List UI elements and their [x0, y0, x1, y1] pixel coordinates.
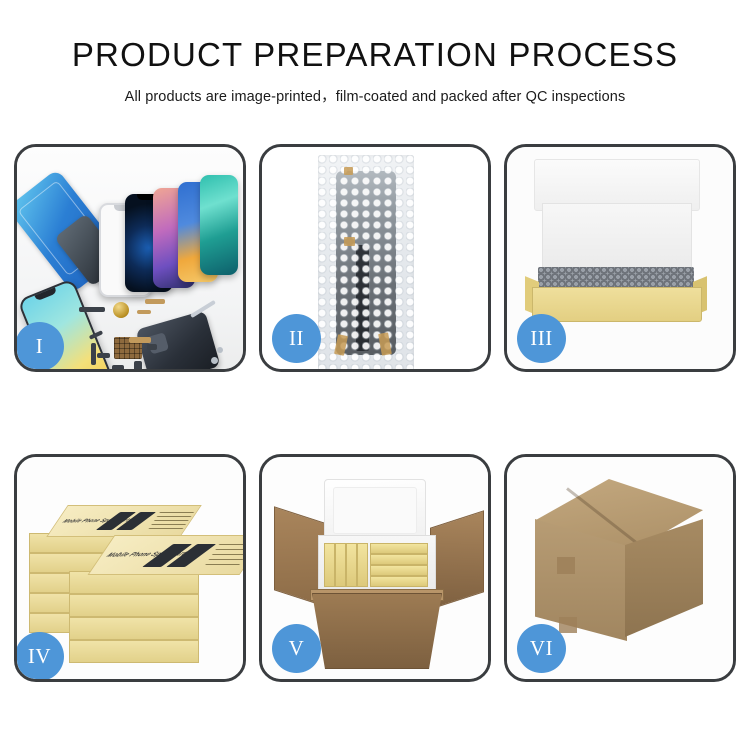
inner-box-7 [370, 565, 428, 576]
inner-box-3 [346, 543, 357, 587]
camera-lens-icon [113, 302, 129, 318]
step-panel-4: Mobile Phone Spare Parts [14, 454, 246, 682]
teal-phone-icon [200, 175, 238, 275]
stack-back-lid: Mobile Phone Spare Parts [46, 505, 202, 537]
step-badge-4: IV [15, 632, 64, 681]
carton-tape-upper-icon [557, 557, 575, 574]
step-panel-6: VI [504, 454, 736, 682]
inner-box-4 [357, 543, 368, 587]
step-panel-1: I [14, 144, 246, 372]
flex-cable-2-icon [137, 310, 151, 314]
screw-1-icon [211, 357, 218, 364]
flex-cable-3-icon [129, 337, 151, 343]
small-part-3-icon [97, 353, 110, 358]
bubble-wrap-sleeve-icon [318, 155, 414, 369]
step-badge-5: V [272, 624, 321, 673]
step-badge-3: III [517, 314, 566, 363]
stack-front-box-3 [69, 617, 199, 640]
step-panel-3: III [504, 144, 736, 372]
product-preparation-infographic: PRODUCT PREPARATION PROCESS All products… [0, 0, 750, 750]
small-part-6-icon [134, 361, 142, 369]
inner-box-1 [324, 543, 335, 587]
step-badge-6: VI [517, 624, 566, 673]
page-subtitle: All products are image-printed，film-coat… [0, 85, 750, 106]
flex-cable-1-icon [145, 299, 165, 304]
inner-box-8 [370, 576, 428, 587]
step-panel-5: V [259, 454, 491, 682]
inner-box-5 [370, 543, 428, 554]
box-inner-foam-icon [542, 203, 692, 275]
screw-2-icon [217, 347, 223, 353]
step-badge-1: I [15, 322, 64, 371]
stack-front-lid: Mobile Phone Spare Parts [88, 535, 243, 575]
stack-front-box-4 [69, 640, 199, 663]
stack-front-box-2 [69, 594, 199, 617]
step-badge-2: II [272, 314, 321, 363]
inner-box-6 [370, 554, 428, 565]
carton-tape-lower-icon [559, 617, 577, 633]
header: PRODUCT PREPARATION PROCESS All products… [0, 0, 750, 106]
kraft-box-front-icon [532, 287, 702, 322]
foam-lid-icon [324, 479, 426, 543]
small-part-4-icon [112, 365, 124, 369]
steps-grid: I II [14, 144, 736, 682]
small-part-7-icon [147, 344, 157, 350]
tape-piece-mid-icon [344, 237, 355, 246]
carton-body-icon [312, 593, 442, 669]
speaker-part-icon [79, 307, 105, 312]
tape-piece-top-icon [344, 167, 353, 175]
step-panel-2: II [259, 144, 491, 372]
small-part-2-icon [91, 343, 96, 365]
page-title: PRODUCT PREPARATION PROCESS [0, 38, 750, 71]
inner-box-2 [335, 543, 346, 587]
